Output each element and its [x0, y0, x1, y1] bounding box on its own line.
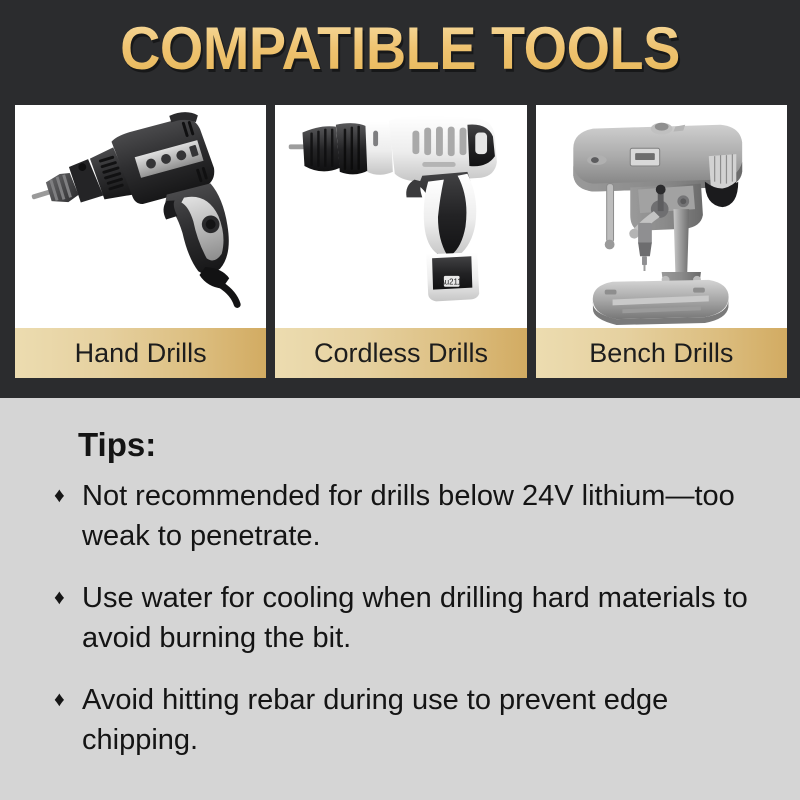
- card-caption-hand-drills: Hand Drills: [15, 328, 266, 378]
- corded-hand-drill-icon: [15, 105, 266, 328]
- header-section: COMPATIBLE TOOLS: [0, 0, 800, 398]
- card-caption-cordless-drills: Cordless Drills: [275, 328, 526, 378]
- tip-text: Use water for cooling when drilling hard…: [82, 578, 772, 658]
- diamond-bullet-icon: ♦: [54, 578, 65, 618]
- tip-text: Not recommended for drills below 24V lit…: [82, 476, 772, 556]
- tip-item: ♦ Avoid hitting rebar during use to prev…: [54, 680, 772, 760]
- tool-card-bench-drills[interactable]: Bench Drills: [536, 105, 787, 378]
- tips-heading: Tips:: [78, 426, 156, 464]
- cordless-drill-icon: P\u2113: [275, 105, 526, 328]
- tool-card-hand-drills[interactable]: Hand Drills: [15, 105, 266, 378]
- hand-drill-image: [15, 105, 266, 328]
- tips-list: ♦ Not recommended for drills below 24V l…: [54, 476, 772, 782]
- diamond-bullet-icon: ♦: [54, 476, 65, 516]
- bench-drill-image: [536, 105, 787, 328]
- tool-card-cordless-drills[interactable]: P\u2113 Cordless Drills: [275, 105, 526, 378]
- bench-drill-press-icon: [536, 105, 787, 328]
- tip-text: Avoid hitting rebar during use to preven…: [82, 680, 772, 760]
- card-caption-bench-drills: Bench Drills: [536, 328, 787, 378]
- svg-text:P\u2113: P\u2113: [438, 278, 467, 287]
- tip-item: ♦ Use water for cooling when drilling ha…: [54, 578, 772, 658]
- compatible-tools-card-row: Hand Drills: [15, 105, 787, 378]
- tips-section: Tips: ♦ Not recommended for drills below…: [0, 398, 800, 800]
- diamond-bullet-icon: ♦: [54, 680, 65, 720]
- infographic-page: COMPATIBLE TOOLS: [0, 0, 800, 800]
- tip-item: ♦ Not recommended for drills below 24V l…: [54, 476, 772, 556]
- cordless-drill-image: P\u2113: [275, 105, 526, 328]
- page-title: COMPATIBLE TOOLS: [28, 16, 772, 82]
